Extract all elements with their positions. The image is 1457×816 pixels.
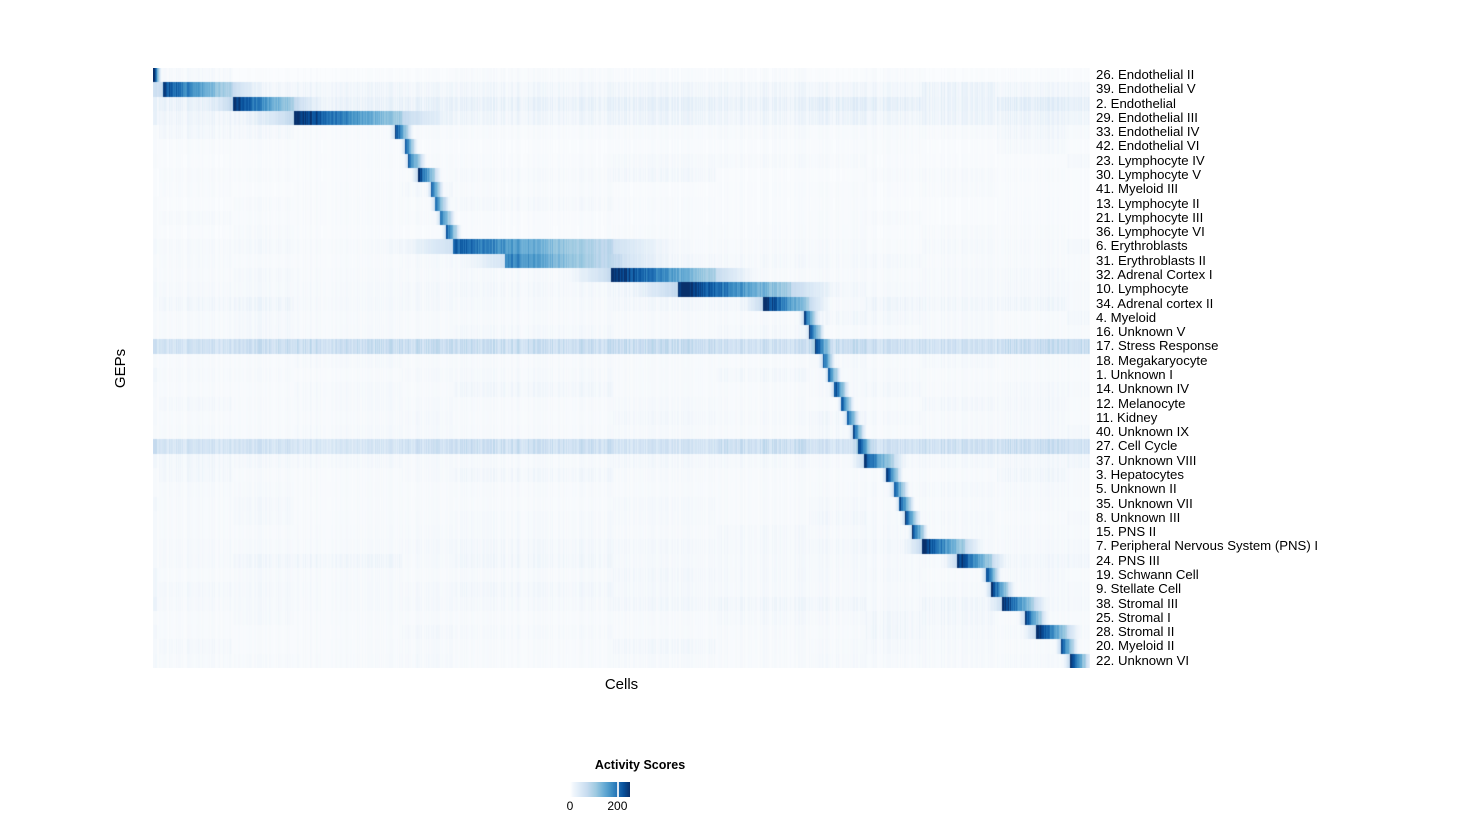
row-label: 25. Stromal I — [1096, 611, 1171, 625]
y-axis-label-container: GEPs — [0, 68, 150, 668]
colorbar-tick-label: 0 — [567, 799, 574, 813]
heatmap-plot-area — [153, 68, 1090, 668]
x-axis-label: Cells — [153, 676, 1090, 693]
row-label: 42. Endothelial VI — [1096, 139, 1199, 153]
row-label: 10. Lymphocyte — [1096, 282, 1189, 296]
row-label: 19. Schwann Cell — [1096, 568, 1199, 582]
colorbar-tick — [617, 782, 619, 797]
row-label: 23. Lymphocyte IV — [1096, 154, 1205, 168]
row-label: 5. Unknown II — [1096, 482, 1177, 496]
heatmap-canvas — [153, 68, 1090, 668]
row-label: 36. Lymphocyte VI — [1096, 225, 1205, 239]
row-label: 31. Erythroblasts II — [1096, 254, 1206, 268]
row-label: 16. Unknown V — [1096, 325, 1185, 339]
row-label: 37. Unknown VIII — [1096, 454, 1196, 468]
row-label: 8. Unknown III — [1096, 511, 1180, 525]
row-label: 11. Kidney — [1096, 411, 1157, 425]
row-label: 38. Stromal III — [1096, 597, 1178, 611]
row-label: 21. Lymphocyte III — [1096, 211, 1203, 225]
colorbar-gradient — [570, 782, 630, 797]
row-label: 4. Myeloid — [1096, 311, 1156, 325]
heatmap-figure: GEPs Cells 26. Endothelial II39. Endothe… — [0, 0, 1457, 815]
y-axis-label-text: GEPs — [112, 348, 129, 387]
row-label: 26. Endothelial II — [1096, 68, 1194, 82]
row-label: 30. Lymphocyte V — [1096, 168, 1201, 182]
row-label: 17. Stress Response — [1096, 339, 1218, 353]
row-label: 2. Endothelial — [1096, 97, 1176, 111]
row-label: 33. Endothelial IV — [1096, 125, 1199, 139]
row-label: 28. Stromal II — [1096, 625, 1174, 639]
row-label: 18. Megakaryocyte — [1096, 354, 1207, 368]
colorbar-legend: Activity Scores 0200 — [500, 758, 780, 816]
row-label: 14. Unknown IV — [1096, 382, 1189, 396]
row-label: 7. Peripheral Nervous System (PNS) I — [1096, 539, 1318, 553]
row-label: 24. PNS III — [1096, 554, 1160, 568]
row-label: 40. Unknown IX — [1096, 425, 1189, 439]
row-label: 15. PNS II — [1096, 525, 1156, 539]
row-label: 13. Lymphocyte II — [1096, 197, 1200, 211]
row-label: 32. Adrenal Cortex I — [1096, 268, 1213, 282]
row-label: 6. Erythroblasts — [1096, 239, 1188, 253]
row-label: 27. Cell Cycle — [1096, 439, 1177, 453]
row-label: 22. Unknown VI — [1096, 654, 1189, 668]
row-label: 3. Hepatocytes — [1096, 468, 1184, 482]
row-label: 41. Myeloid III — [1096, 182, 1178, 196]
row-label: 35. Unknown VII — [1096, 497, 1193, 511]
row-label: 20. Myeloid II — [1096, 639, 1174, 653]
row-label: 39. Endothelial V — [1096, 82, 1196, 96]
row-label-list: 26. Endothelial II39. Endothelial V2. En… — [1096, 68, 1456, 668]
row-label: 12. Melanocyte — [1096, 397, 1185, 411]
colorbar-title: Activity Scores — [500, 758, 780, 772]
colorbar-tick-label: 200 — [607, 799, 627, 813]
row-label: 9. Stellate Cell — [1096, 582, 1181, 596]
row-label: 29. Endothelial III — [1096, 111, 1198, 125]
y-axis-label: GEPs — [0, 68, 140, 668]
row-label: 34. Adrenal cortex II — [1096, 297, 1213, 311]
row-label: 1. Unknown I — [1096, 368, 1173, 382]
